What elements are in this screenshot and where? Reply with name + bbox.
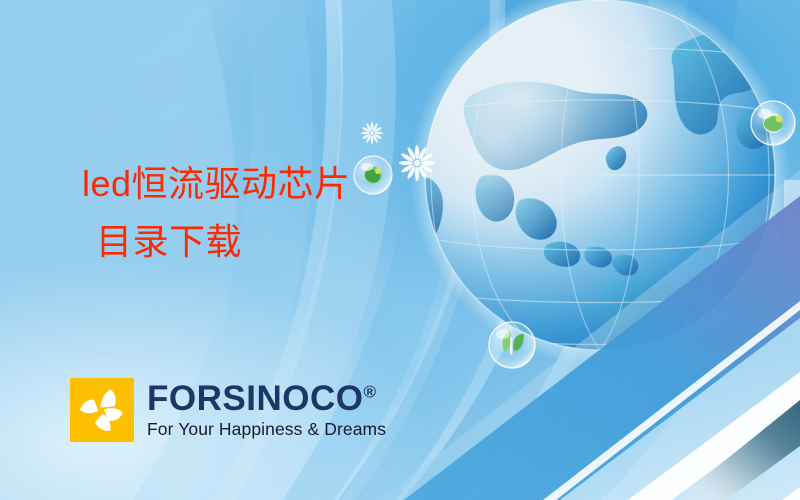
bubble-mini-globe-icon-right <box>751 101 795 145</box>
bubble-green-leaf-icon <box>489 322 535 368</box>
logo-company-name: FORSINOCO® <box>147 381 386 416</box>
logo-wordmark: FORSINOCO® For Your Happiness & Dreams <box>147 381 386 439</box>
logo-tagline: For Your Happiness & Dreams <box>147 421 386 439</box>
four-petal-pinwheel-icon <box>70 378 134 442</box>
logo-company-name-text: FORSINOCO <box>147 379 363 418</box>
bubble-mini-globe-icon <box>354 156 392 194</box>
registered-trademark-icon: ® <box>363 383 376 402</box>
headline: led恒流驱动芯片 目录下载 <box>82 163 351 264</box>
headline-line-2: 目录下载 <box>96 221 351 263</box>
company-logo: FORSINOCO® For Your Happiness & Dreams <box>70 378 386 442</box>
headline-line-1: led恒流驱动芯片 <box>82 163 351 205</box>
promo-banner: led恒流驱动芯片 目录下载 FORSINOCO® Fo <box>0 0 800 500</box>
